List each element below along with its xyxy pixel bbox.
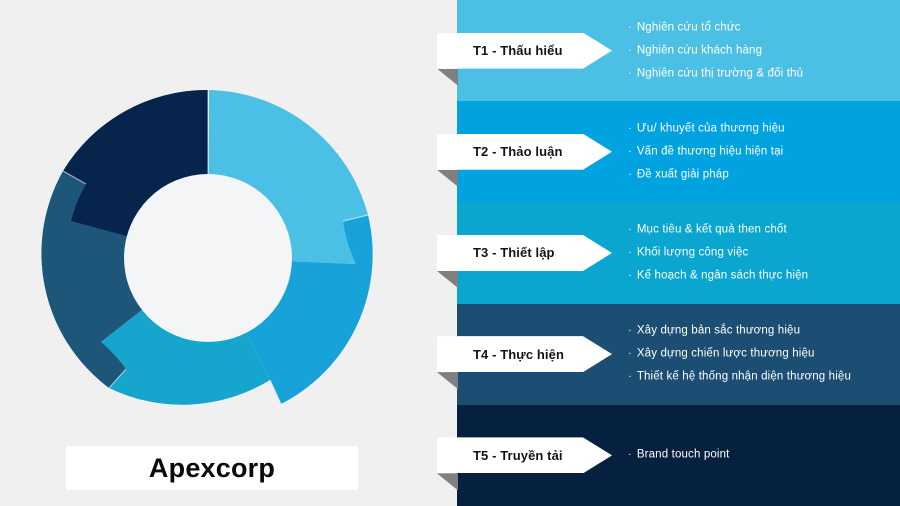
phase-band-5: ·Brand touch pointT5 - Truyền tải — [457, 405, 900, 506]
phase-banner-1[interactable]: T1 - Thấu hiểu — [437, 33, 612, 69]
phase-bullet-list-5: ·Brand touch point — [628, 449, 730, 462]
phase-bullet: ·Nghiên cứu thị trường & đối thủ — [628, 67, 803, 80]
phase-bullet-list-2: ·Ưu/ khuyết của thương hiệu·Vấn đề thươn… — [628, 122, 785, 181]
phase-bullet: ·Ưu/ khuyết của thương hiệu — [628, 122, 785, 135]
bullet-dot-icon: · — [628, 325, 632, 338]
bullet-dot-icon: · — [628, 21, 632, 34]
company-title-bar: Apexcorp — [66, 446, 358, 490]
phase-banner-2[interactable]: T2 - Thảo luận — [437, 134, 612, 170]
phase-bullet: ·Khối lượng công việc — [628, 246, 808, 259]
bullet-dot-icon: · — [628, 348, 632, 361]
phase-banner-3[interactable]: T3 - Thiết lập — [437, 235, 612, 271]
phase-bands-panel: ·Nghiên cứu tổ chức·Nghiên cứu khách hàn… — [457, 0, 900, 506]
phase-banner-5[interactable]: T5 - Truyền tải — [437, 437, 612, 473]
banner-arrow-shape: T3 - Thiết lập — [437, 235, 612, 271]
phase-bullet: ·Nghiên cứu tổ chức — [628, 21, 803, 34]
phase-bullet: ·Kế hoạch & ngân sách thực hiện — [628, 269, 808, 282]
phase-band-1: ·Nghiên cứu tổ chức·Nghiên cứu khách hàn… — [457, 0, 900, 101]
bullet-dot-icon: · — [628, 168, 632, 181]
phase-bullet: ·Vấn đề thương hiệu hiện tại — [628, 145, 785, 158]
phase-bullet-text: Vấn đề thương hiệu hiện tại — [637, 145, 784, 158]
donut-chart-segments — [38, 88, 378, 428]
phase-bullet-list-3: ·Mục tiêu & kết quả then chốt·Khối lượng… — [628, 223, 808, 282]
bullet-dot-icon: · — [628, 269, 632, 282]
phase-bullet: ·Thiết kế hệ thống nhận diện thương hiệu — [628, 371, 851, 384]
phase-bullet-text: Đề xuất giải pháp — [637, 168, 729, 181]
bullet-dot-icon: · — [628, 44, 632, 57]
phase-bullet-text: Thiết kế hệ thống nhận diện thương hiệu — [637, 371, 851, 384]
phase-bullet-text: Nghiên cứu thị trường & đối thủ — [637, 67, 803, 80]
banner-arrow-shape: T4 - Thực hiện — [437, 336, 612, 372]
bullet-dot-icon: · — [628, 67, 632, 80]
banner-arrow-shape: T2 - Thảo luận — [437, 134, 612, 170]
phase-bullet-list-1: ·Nghiên cứu tổ chức·Nghiên cứu khách hàn… — [628, 21, 803, 80]
phase-bullet-text: Xây dựng chiến lược thương hiệu — [637, 348, 815, 361]
phase-band-4: ·Xây dựng bản sắc thương hiệu·Xây dựng c… — [457, 304, 900, 405]
phase-bullet-text: Nghiên cứu khách hàng — [637, 44, 762, 57]
bullet-dot-icon: · — [628, 122, 632, 135]
phase-label: T4 - Thực hiện — [473, 347, 564, 362]
phase-bullet: ·Nghiên cứu khách hàng — [628, 44, 803, 57]
slide-canvas: Thấu hiểu Thảo luận Thiết lập Thực hiện … — [0, 0, 900, 506]
phase-bullet-text: Kế hoạch & ngân sách thực hiện — [637, 269, 808, 282]
phase-label: T2 - Thảo luận — [473, 144, 563, 159]
phase-bullet-text: Brand touch point — [637, 449, 730, 462]
phase-band-2: ·Ưu/ khuyết của thương hiệu·Vấn đề thươn… — [457, 101, 900, 202]
company-name: Apexcorp — [149, 453, 275, 484]
phase-bullet: ·Mục tiêu & kết quả then chốt — [628, 223, 808, 236]
branding-wheel: Thấu hiểu Thảo luận Thiết lập Thực hiện … — [38, 88, 378, 428]
bullet-dot-icon: · — [628, 145, 632, 158]
banner-arrow-shape: T5 - Truyền tải — [437, 437, 612, 473]
phase-bullet: ·Xây dựng bản sắc thương hiệu — [628, 325, 851, 338]
branding-wheel-panel: Thấu hiểu Thảo luận Thiết lập Thực hiện … — [0, 0, 457, 506]
phase-bullet-text: Ưu/ khuyết của thương hiệu — [637, 122, 785, 135]
donut-hole — [124, 174, 292, 342]
phase-label: T5 - Truyền tải — [473, 448, 563, 463]
phase-banner-4[interactable]: T4 - Thực hiện — [437, 336, 612, 372]
bullet-dot-icon: · — [628, 246, 632, 259]
phase-label: T1 - Thấu hiểu — [473, 43, 563, 58]
bullet-dot-icon: · — [628, 371, 632, 384]
phase-bullet-text: Xây dựng bản sắc thương hiệu — [637, 325, 800, 338]
bullet-dot-icon: · — [628, 223, 632, 236]
phase-bullet-text: Nghiên cứu tổ chức — [637, 21, 741, 34]
phase-label: T3 - Thiết lập — [473, 245, 555, 260]
phase-bullet: ·Đề xuất giải pháp — [628, 168, 785, 181]
phase-bullet: ·Brand touch point — [628, 449, 730, 462]
bullet-dot-icon: · — [628, 449, 632, 462]
phase-bullet-text: Mục tiêu & kết quả then chốt — [637, 223, 787, 236]
phase-bullet-text: Khối lượng công việc — [637, 246, 749, 259]
banner-arrow-shape: T1 - Thấu hiểu — [437, 33, 612, 69]
phase-band-3: ·Mục tiêu & kết quả then chốt·Khối lượng… — [457, 202, 900, 303]
phase-bullet: ·Xây dựng chiến lược thương hiệu — [628, 348, 851, 361]
phase-bullet-list-4: ·Xây dựng bản sắc thương hiệu·Xây dựng c… — [628, 325, 851, 384]
